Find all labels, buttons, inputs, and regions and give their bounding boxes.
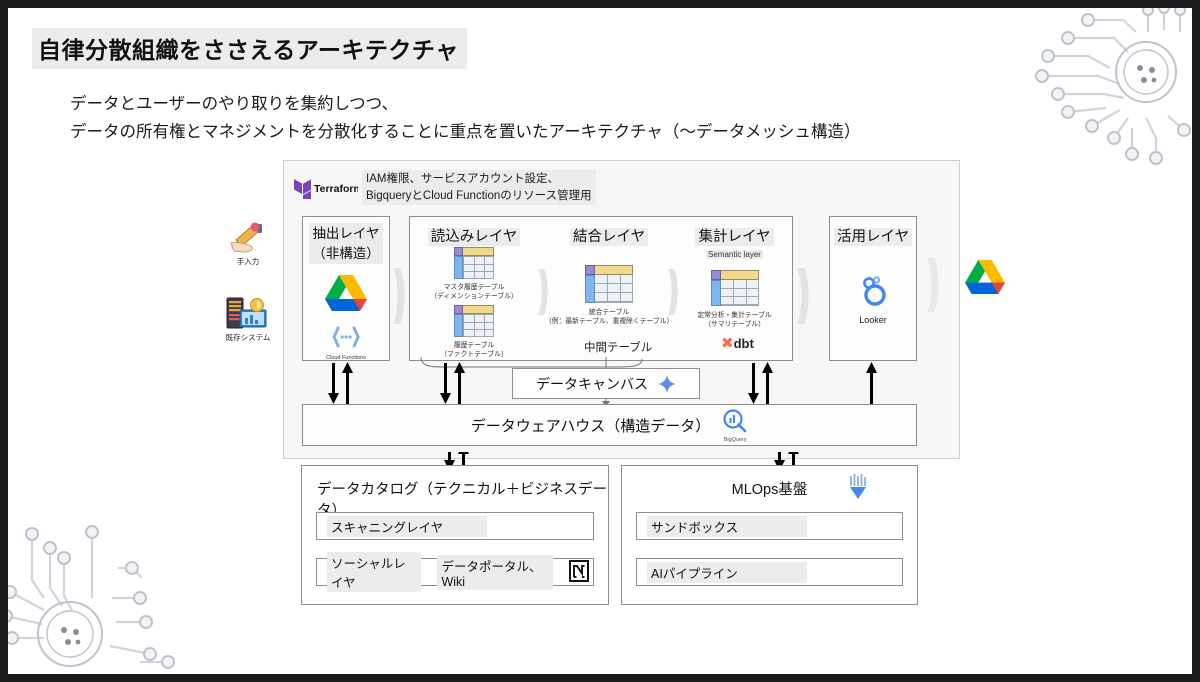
dbt-x-icon: ✖	[721, 335, 734, 352]
vertex-ai-icon	[847, 474, 869, 505]
terraform-logo: Terraform	[292, 174, 358, 200]
terraform-note: IAM権限、サービスアカウント設定、 BigqueryとCloud Functi…	[362, 170, 596, 205]
source-legacy-system: 既存システム	[222, 296, 274, 343]
panel-title-mlops: MLOps基盤	[622, 478, 917, 499]
data-canvas-box[interactable]: データキャンバス	[512, 368, 700, 399]
layer-title-use: 活用レイヤ	[830, 225, 916, 246]
row-label: ソーシャルレイヤ	[327, 552, 421, 592]
row-label: スキャニングレイヤ	[327, 516, 487, 537]
layer-title-extract: 抽出レイヤ （非構造）	[303, 223, 389, 264]
layer-load[interactable]: 読込みレイヤ マスタ履歴テーブル （ディメンションテーブル） 履歴テーブル （フ…	[410, 217, 538, 360]
table-caption: マスタ履歴テーブル （ディメンションテーブル）	[410, 283, 538, 301]
looker-icon: Looker	[856, 273, 890, 325]
layer-title-aggregate: 集計レイヤ	[675, 225, 794, 246]
page-subtitle: データとユーザーのやり取りを集約しつつ、 データの所有権とマネジメントを分散化す…	[70, 90, 860, 147]
gemini-sparkle-icon	[658, 375, 676, 393]
catalog-row-scanning[interactable]: スキャニングレイヤ	[316, 512, 594, 540]
circuit-decoration-top-right	[1028, 8, 1192, 173]
data-warehouse-box[interactable]: データウェアハウス（構造データ） BigQuery	[302, 404, 917, 446]
source-label: 手入力	[222, 256, 274, 267]
data-canvas-label: データキャンバス	[536, 374, 648, 394]
table-caption: 定常分析・集計テーブル （サマリテーブル）	[675, 311, 794, 329]
notion-icon	[569, 560, 589, 585]
looker-label: Looker	[856, 315, 890, 325]
layer-title-load: 読込みレイヤ	[410, 225, 538, 246]
panel-mlops[interactable]: MLOps基盤 サンドボックス AIパイプライン	[621, 465, 918, 605]
cloud-functions-icon: Cloud Functions	[326, 325, 366, 361]
google-drive-icon	[325, 273, 367, 316]
architecture-frame: Terraform IAM権限、サービスアカウント設定、 BigqueryとCl…	[283, 160, 960, 459]
bigquery-icon: BigQuery	[722, 408, 748, 443]
bigquery-label: BigQuery	[722, 437, 748, 443]
page-title: 自律分散組織をささえるアーキテクチャ	[32, 28, 467, 69]
layer-title-join: 結合レイヤ	[545, 225, 673, 246]
middle-table-label: 中間テーブル	[584, 339, 652, 355]
table-caption: 統合テーブル （例：最新テーブル、重複除くテーブル）	[545, 308, 673, 326]
mlops-row-sandbox[interactable]: サンドボックス	[636, 512, 903, 540]
panel-data-catalog[interactable]: データカタログ（テクニカル＋ビジネスデータ） スキャニングレイヤ ソーシャルレイ…	[301, 465, 609, 605]
table-icon	[454, 247, 494, 279]
row-label: AIパイプライン	[647, 562, 807, 583]
hand-writing-icon	[228, 220, 268, 254]
legacy-system-icon	[226, 296, 270, 330]
row-extra: データポータル、Wiki	[437, 555, 553, 590]
table-caption: 履歴テーブル （ファクトテーブル）	[410, 341, 538, 359]
circuit-decoration-bottom-left	[8, 506, 175, 674]
chevron-extract-to-load	[391, 266, 409, 326]
terraform-note-row: Terraform IAM権限、サービスアカウント設定、 BigqueryとCl…	[292, 170, 596, 205]
layer-box-extract[interactable]: 抽出レイヤ （非構造） Cloud Functions	[302, 216, 390, 361]
catalog-row-social[interactable]: ソーシャルレイヤ データポータル、Wiki	[316, 558, 594, 586]
output-google-drive-icon	[965, 258, 1005, 299]
row-label: サンドボックス	[647, 516, 807, 537]
slide-canvas: 自律分散組織をささえるアーキテクチャ データとユーザーのやり取りを集約しつつ、 …	[8, 8, 1192, 674]
table-icon	[711, 270, 759, 306]
dbt-logo: ✖dbt	[721, 334, 754, 352]
source-manual-input: 手入力	[222, 220, 274, 267]
table-icon	[454, 305, 494, 337]
semantic-layer-label: Semantic layer	[675, 250, 794, 259]
table-icon	[585, 265, 633, 303]
cloud-functions-label: Cloud Functions	[326, 355, 366, 361]
chevron-aggregate-to-use	[795, 266, 813, 326]
data-warehouse-label: データウェアハウス（構造データ）	[471, 415, 710, 436]
layer-aggregate[interactable]: 集計レイヤ Semantic layer 定常分析・集計テーブル （サマリテーブ…	[675, 217, 794, 360]
source-label: 既存システム	[222, 332, 274, 343]
layer-box-use[interactable]: 活用レイヤ Looker	[829, 216, 917, 361]
chevron-to-output	[925, 256, 943, 314]
terraform-logo-text: Terraform	[314, 183, 358, 195]
mlops-row-ai-pipeline[interactable]: AIパイプライン	[636, 558, 903, 586]
